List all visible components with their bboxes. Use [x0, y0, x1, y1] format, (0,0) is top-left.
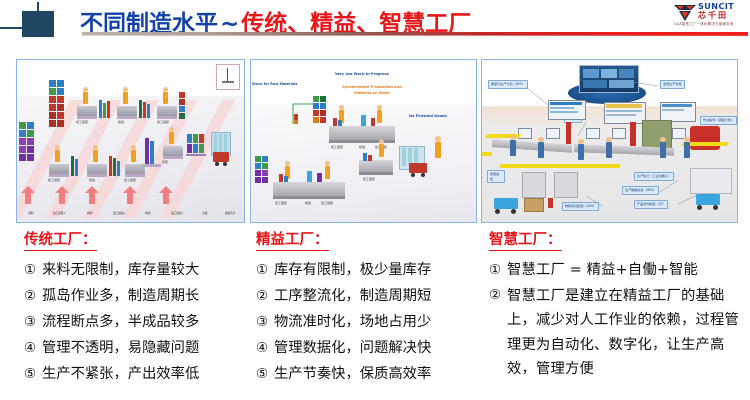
- legend-item: 检验: [79, 208, 101, 220]
- hmi-row: [606, 104, 642, 108]
- operator: [510, 140, 516, 156]
- worker-head: [379, 139, 384, 144]
- workstation-machine: [49, 164, 69, 174]
- list-item: ③ 流程断点多，半成品较多: [24, 311, 246, 334]
- list-item-text: 生产不紧张，产出效率低: [42, 363, 199, 386]
- logo-tagline: SAA智慧工厂一体化解决方案服务商: [674, 21, 734, 26]
- worker-body: [55, 150, 60, 162]
- worker-head: [93, 145, 98, 150]
- worker-body: [379, 144, 384, 157]
- station-label: 检验: [89, 178, 95, 182]
- delivery-truck: [494, 198, 518, 209]
- conveyor-line: [273, 182, 345, 196]
- slide-header: 不同制造水平~传统、精益、智慧工厂 SUNCIT 芯千田 SAA智慧工厂一体化解…: [0, 0, 750, 44]
- legend-item: 加工组装1: [43, 208, 75, 220]
- inset-chart: [216, 64, 240, 90]
- process-arrow-head: [85, 186, 99, 193]
- traditional-scene: 加工组装 检验 加工组装 加工组装: [17, 60, 244, 222]
- workstation-base: [143, 164, 161, 167]
- worker-head: [169, 127, 174, 132]
- conveyor-line: [329, 126, 395, 140]
- list-item-text: 孤岛作业多，制造周期长: [42, 285, 199, 308]
- workstation-machine: [117, 106, 137, 116]
- warehouse-rack: [522, 172, 546, 198]
- hmi-row: [606, 114, 636, 116]
- annotation-synchronized: Synchronized Production and Material on …: [335, 84, 409, 96]
- list-item-number: ②: [256, 285, 274, 308]
- annotation-raw-materials: Low Stock for Raw Materials: [250, 82, 297, 86]
- worker-body: [169, 132, 174, 144]
- smart-factory-image: 质量与生产计划（APS） 全局生产管控 设备状态 生产统计 作业指导（调度分析）…: [481, 59, 738, 223]
- andon-tower: [566, 122, 571, 144]
- list-item-text: 库存有限制，极少量库存: [274, 259, 431, 282]
- process-arrow-head: [55, 186, 69, 193]
- station-label: 加工组装: [275, 201, 287, 205]
- worker-head: [55, 145, 60, 150]
- list-item-text: 智慧工厂是建立在精益工厂的基础上，减少对人工作业的依赖，过程管理更为自动化、数字…: [507, 284, 739, 382]
- delivery-truck: [696, 194, 720, 205]
- list-item-number: ①: [24, 259, 42, 282]
- worker-head: [163, 87, 168, 92]
- annotation-wip: Very low Work-In-Progress: [335, 72, 389, 76]
- list-item-text: 物流准时化，场地占用少: [274, 311, 431, 334]
- logo-mark-icon: [674, 4, 696, 22]
- list-item: ⑤ 生产不紧张，产出效率低: [24, 363, 246, 386]
- operator: [684, 142, 690, 158]
- list-item-text: 管理不透明，易隐藏问题: [42, 337, 199, 360]
- lean-factory-column: 精益工厂： ① 库存有限制，极少量库存 ② 工序整流化，制造周期短 ③ 物流准时…: [256, 228, 478, 388]
- station-label: 加工组装: [124, 178, 136, 182]
- list-item: ② 智慧工厂是建立在精益工厂的基础上，减少对人工作业的依赖，过程管理更为自动化、…: [489, 284, 739, 382]
- smart-scene: 质量与生产计划（APS） 全局生产管控 设备状态 生产统计 作业指导（调度分析）…: [482, 60, 737, 222]
- workstation-base: [117, 116, 137, 119]
- equipment-cabinet: [642, 120, 672, 148]
- legend-item: 加工组装2: [103, 208, 135, 220]
- process-arrow-head: [21, 186, 35, 193]
- list-item-number: ①: [489, 259, 507, 282]
- legend-item: 原料: [19, 208, 43, 220]
- traditional-factory-column: 传统工厂： ① 来料无限制，库存量较大 ② 孤岛作业多，制造周期长 ③ 流程断点…: [24, 228, 246, 388]
- safety-cone: [548, 198, 553, 208]
- station-terminal: [546, 128, 560, 139]
- list-item-text: 管理数据化，问题解决快: [274, 337, 431, 360]
- company-logo: SUNCIT 芯千田 SAA智慧工厂一体化解决方案服务商: [674, 2, 746, 28]
- list-item-number: ③: [256, 311, 274, 334]
- station-label: 检验: [359, 145, 365, 149]
- column-heading-smart: 智慧工厂：: [489, 228, 562, 251]
- list-item: ④ 管理数据化，问题解决快: [256, 337, 478, 360]
- list-item-number: ④: [256, 337, 274, 360]
- list-item: ① 智慧工厂 = 精益+自働+智能: [489, 259, 739, 282]
- industrial-robot: [690, 126, 720, 150]
- station-label: 包装: [162, 160, 168, 164]
- list-item-text: 智慧工厂 = 精益+自働+智能: [507, 259, 698, 282]
- list-item: ② 孤岛作业多，制造周期长: [24, 285, 246, 308]
- logo-brand-text: SUNCIT: [698, 2, 734, 11]
- warehouse-rack: [554, 172, 578, 198]
- list-item-number: ⑤: [256, 363, 274, 386]
- worker-head: [339, 105, 344, 110]
- pallet-box: [402, 148, 406, 166]
- hmi-row: [606, 110, 642, 112]
- header-decor-square: [22, 11, 54, 37]
- list-item: ⑤ 生产节奏快，保质高效率: [256, 363, 478, 386]
- list-item: ③ 物流准时化，场地占用少: [256, 311, 478, 334]
- list-item-text: 来料无限制，库存量较大: [42, 259, 199, 282]
- header-decor-hline: [0, 27, 24, 29]
- worker-head: [377, 105, 382, 110]
- process-legend: 原料 加工组装1 检验 加工组装2 检验 加工组装3 包装 成品仓库: [19, 208, 241, 220]
- worker-body: [83, 92, 88, 104]
- packing-base: [359, 172, 393, 175]
- lean-items-list: ① 库存有限制，极少量库存 ② 工序整流化，制造周期短 ③ 物流准时化，场地占用…: [256, 259, 478, 385]
- workstation-base: [125, 174, 145, 177]
- list-item-number: ③: [24, 311, 42, 334]
- title-underline-rule-thin: [82, 35, 748, 36]
- packing-conveyor: [359, 160, 393, 172]
- workstation-base: [77, 116, 97, 119]
- station-label: 加工组装: [48, 178, 60, 182]
- workstation-machine: [157, 106, 177, 116]
- legend-item: 包装: [195, 208, 215, 220]
- list-item: ④ 管理不透明，易隐藏问题: [24, 337, 246, 360]
- list-item-number: ⑤: [24, 363, 42, 386]
- hmi-row: [550, 102, 582, 105]
- packing-base: [163, 156, 183, 159]
- station-label: 加工组装: [76, 120, 88, 124]
- lean-factory-image: Low Stock for Raw Materials Very low Wor…: [250, 59, 477, 223]
- hmi-row: [550, 111, 578, 113]
- operator: [578, 144, 584, 160]
- list-item-number: ①: [256, 259, 274, 282]
- operator: [660, 142, 666, 158]
- conveyor-base: [329, 140, 395, 143]
- station-label: 加工组装: [321, 201, 333, 205]
- lean-scene: Low Stock for Raw Materials Very low Wor…: [251, 60, 476, 222]
- legend-item: 加工组装3: [161, 208, 193, 220]
- list-item-text: 流程断点多，半成品较多: [42, 311, 199, 334]
- list-item: ① 库存有限制，极少量库存: [256, 259, 478, 282]
- worker-body: [377, 110, 382, 123]
- worker-body: [93, 150, 98, 162]
- smart-factory-column: 智慧工厂： ① 智慧工厂 = 精益+自働+智能 ② 智慧工厂是建立在精益工厂的基…: [489, 228, 739, 384]
- workstation-machine: [77, 106, 97, 116]
- station-label: 检验: [305, 201, 311, 205]
- legend-item: 检验: [137, 208, 159, 220]
- worker-head: [83, 87, 88, 92]
- station-terminal: [586, 128, 600, 139]
- andon-tower: [630, 122, 636, 146]
- conveyor-base: [273, 196, 345, 199]
- worker-head: [325, 161, 330, 166]
- list-item-text: 生产节奏快，保质高效率: [274, 363, 431, 386]
- workstation-machine: [87, 164, 107, 174]
- list-item-number: ④: [24, 337, 42, 360]
- smart-items-list: ① 智慧工厂 = 精益+自働+智能 ② 智慧工厂是建立在精益工厂的基础上，减少对…: [489, 259, 739, 382]
- workstation-base: [49, 174, 69, 177]
- process-arrow-head: [159, 186, 173, 193]
- list-item-number: ②: [489, 284, 507, 307]
- workstation-base: [157, 116, 177, 119]
- legend-item: 成品仓库: [215, 208, 245, 220]
- list-item: ① 来料无限制，库存量较大: [24, 259, 246, 282]
- hmi-row: [662, 109, 684, 111]
- operator: [538, 142, 544, 158]
- worker-body: [163, 92, 168, 104]
- worker-body: [131, 150, 136, 162]
- packing-machine: [163, 146, 183, 156]
- station-label: 加工组装: [331, 145, 343, 149]
- logo-brand-cn: 芯千田: [698, 11, 728, 20]
- agv-path: [499, 164, 621, 168]
- annotation-finished-goods: No Finished Goods: [409, 114, 447, 118]
- list-item-number: ②: [24, 285, 42, 308]
- worker-body: [123, 92, 128, 104]
- station-terminal: [612, 128, 626, 139]
- worker-body: [435, 142, 441, 158]
- station-label: 检验: [118, 120, 124, 124]
- agv-pallet: [524, 198, 544, 212]
- worker-head: [435, 136, 441, 142]
- operator: [606, 142, 612, 158]
- station-label: 加工组装: [363, 177, 375, 181]
- traditional-factory-image: 加工组装 检验 加工组装 加工组装: [16, 59, 245, 223]
- hmi-row: [550, 107, 574, 109]
- column-heading-traditional: 传统工厂：: [24, 228, 97, 251]
- workstation-machine: [125, 164, 145, 174]
- traditional-items-list: ① 来料无限制，库存量较大 ② 孤岛作业多，制造周期长 ③ 流程断点多，半成品较…: [24, 259, 246, 385]
- station-label: 加工组装: [157, 120, 169, 124]
- agv-path: [482, 152, 492, 156]
- worker-head: [131, 145, 136, 150]
- column-heading-lean: 精益工厂：: [256, 228, 329, 251]
- list-item-text: 工序整流化，制造周期短: [274, 285, 431, 308]
- worker-head: [123, 87, 128, 92]
- worker-head: [285, 161, 290, 166]
- process-arrow-head: [123, 186, 137, 193]
- warehouse-rack: [690, 168, 732, 194]
- worker-body: [325, 166, 330, 179]
- list-item: ② 工序整流化，制造周期短: [256, 285, 478, 308]
- workstation-base: [87, 174, 107, 177]
- hmi-row: [662, 104, 692, 107]
